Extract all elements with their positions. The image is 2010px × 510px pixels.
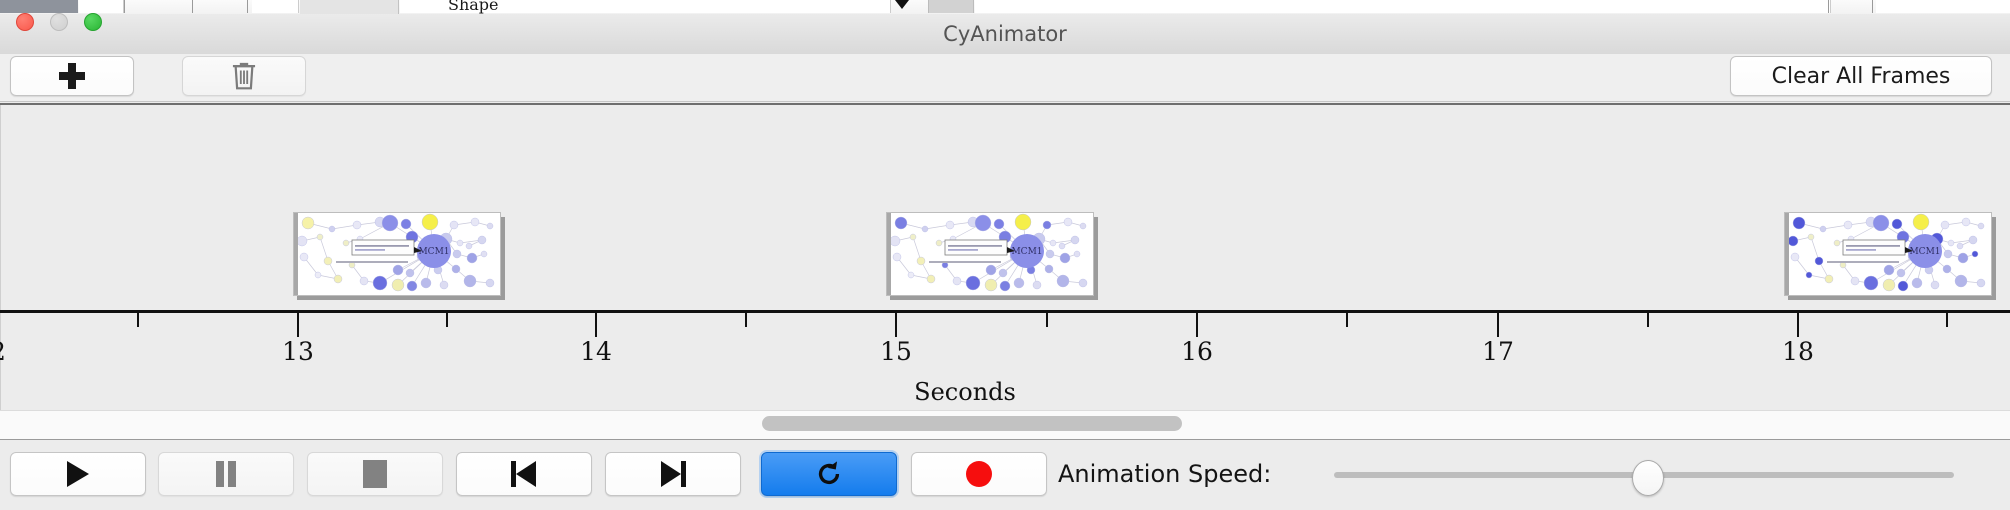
axis-tick-major — [1196, 313, 1198, 337]
pause-icon — [215, 461, 237, 487]
network-graph: MCM1 — [887, 213, 1093, 295]
axis-tick-minor — [1647, 313, 1649, 327]
axis-tick-minor — [1046, 313, 1048, 327]
axis-tick-label: 17 — [1482, 337, 1514, 366]
skip-next-icon — [660, 461, 686, 487]
axis-tick-minor — [1346, 313, 1348, 327]
animation-speed-slider-thumb[interactable] — [1632, 460, 1664, 496]
record-icon — [966, 461, 992, 487]
background-divider — [192, 0, 193, 13]
window-title: CyAnimator — [0, 14, 2010, 54]
delete-frame-button[interactable] — [182, 56, 306, 96]
play-button[interactable] — [10, 452, 146, 496]
background-divider — [124, 0, 125, 13]
stop-button[interactable] — [307, 452, 443, 496]
loop-button[interactable] — [761, 452, 897, 496]
axis-tick-minor — [1946, 313, 1948, 327]
background-window-cell — [928, 0, 974, 13]
axis-tick-major — [895, 313, 897, 337]
axis-tick-label: 2 — [0, 337, 6, 366]
timeline-axis — [0, 310, 2010, 313]
axis-tick-label: 13 — [282, 337, 314, 366]
axis-title: Seconds — [0, 378, 2010, 406]
frame-thumbnail[interactable]: MCM1 — [886, 212, 1098, 300]
background-window-cell — [252, 0, 299, 13]
network-graph: MCM1 — [1785, 213, 1991, 295]
plus-icon — [59, 63, 85, 89]
axis-tick-minor — [745, 313, 747, 327]
axis-tick-major — [1797, 313, 1799, 337]
frame-rail — [1785, 213, 1789, 295]
svg-text:MCM1: MCM1 — [1011, 247, 1042, 257]
skip-next-button[interactable] — [605, 452, 741, 496]
background-window-tab — [300, 0, 399, 14]
frame-canvas: MCM1 — [886, 212, 1094, 296]
add-frame-button[interactable] — [10, 56, 134, 96]
background-divider — [1828, 0, 1829, 13]
axis-tick-label: 16 — [1181, 337, 1213, 366]
background-divider — [247, 0, 248, 13]
background-window-label: Shape — [448, 0, 499, 14]
background-window-titlebar — [0, 0, 78, 13]
axis-tick-label: 18 — [1782, 337, 1814, 366]
frame-canvas: MCM1 — [1784, 212, 1992, 296]
play-icon — [67, 461, 89, 487]
frame-canvas: MCM1 — [293, 212, 501, 296]
skip-previous-button[interactable] — [456, 452, 592, 496]
skip-previous-icon — [511, 461, 537, 487]
axis-tick-label: 15 — [880, 337, 912, 366]
loop-icon — [814, 459, 844, 489]
background-window-strip: Shape — [0, 0, 2010, 15]
background-caret-icon — [895, 0, 909, 9]
axis-tick-minor — [137, 313, 139, 327]
record-button[interactable] — [911, 452, 1047, 496]
background-divider — [1872, 0, 1873, 13]
toolbar-separator — [0, 101, 2010, 102]
pause-button[interactable] — [158, 452, 294, 496]
stop-icon — [363, 460, 387, 488]
background-window-cell — [79, 0, 124, 13]
axis-tick-minor — [446, 313, 448, 327]
background-window-cell — [1876, 0, 2010, 13]
background-window-cell — [975, 0, 1831, 13]
clear-all-frames-button[interactable]: Clear All Frames — [1730, 56, 1992, 96]
network-graph: MCM1 — [294, 213, 500, 295]
trash-icon — [229, 60, 259, 92]
cyanimator-window: Shape CyAnimator Clear All Frames MCM1MC… — [0, 0, 2010, 510]
animation-speed-label: Animation Speed: — [1058, 452, 1271, 496]
timeline-scrollbar-thumb[interactable] — [762, 416, 1182, 431]
axis-tick-label: 14 — [580, 337, 612, 366]
svg-text:MCM1: MCM1 — [1909, 247, 1940, 257]
frame-rail — [887, 213, 891, 295]
frame-rail — [294, 213, 298, 295]
axis-tick-major — [595, 313, 597, 337]
frame-thumbnail[interactable]: MCM1 — [1784, 212, 1996, 300]
axis-tick-major — [1497, 313, 1499, 337]
axis-tick-major — [297, 313, 299, 337]
svg-text:MCM1: MCM1 — [418, 247, 449, 257]
frame-thumbnail[interactable]: MCM1 — [293, 212, 505, 300]
